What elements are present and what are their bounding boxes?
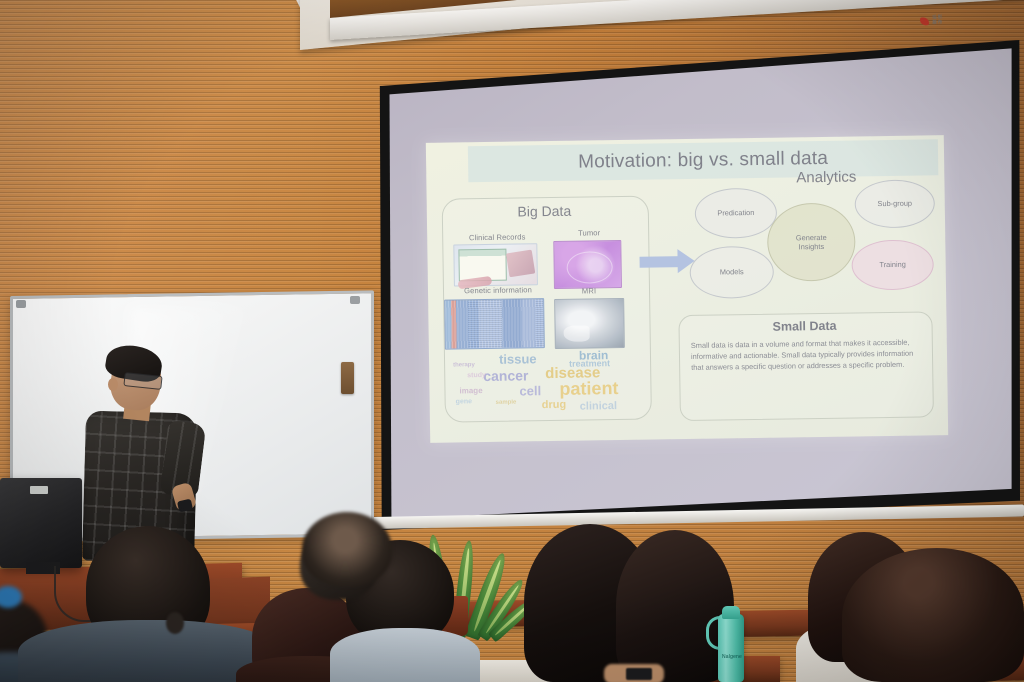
- word-cloud-term: sample: [496, 400, 517, 406]
- bottle-cap: [722, 606, 740, 619]
- caption-mri: MRI: [554, 286, 624, 296]
- word-cloud-term: cell: [519, 383, 541, 398]
- word-cloud-term: drug: [542, 399, 567, 411]
- housing-label-line2: 幕布: [932, 20, 943, 26]
- bottle-brand-text: Nalgene: [720, 654, 744, 660]
- word-cloud-term: cancer: [483, 367, 528, 384]
- audience-shoulders-center-left: [330, 628, 480, 682]
- audience-head-far-right: [842, 548, 1024, 682]
- water-bottle: [718, 614, 744, 682]
- big-data-heading: Big Data: [442, 202, 647, 221]
- word-cloud-term: clinical: [580, 400, 617, 413]
- flow-arrow-body: [640, 256, 682, 268]
- analytics-node-training: Training: [851, 239, 934, 290]
- projected-slide: Motivation: big vs. small data Big Data …: [426, 135, 948, 443]
- word-cloud-term: tissue: [499, 351, 537, 367]
- word-cloud-term: study: [467, 372, 486, 379]
- analytics-node-generate-insights: GenerateInsights: [767, 203, 856, 282]
- tumor-histology-thumbnail: [553, 240, 622, 289]
- caption-clinical-records: Clinical Records: [445, 232, 549, 243]
- brand-mark-icon: [920, 17, 929, 26]
- word-cloud-term: patient: [559, 378, 618, 400]
- caption-tumor: Tumor: [547, 228, 631, 238]
- whiteboard-corner-tr: [350, 296, 360, 304]
- word-cloud-term: gene: [456, 398, 472, 405]
- audience-ear-front-left: [166, 612, 184, 634]
- word-cloud-term: therapy: [453, 362, 475, 368]
- audience-head-center-right: [616, 530, 734, 682]
- phone-device: [626, 668, 652, 680]
- analytics-node-sub-group: Sub-group: [854, 179, 935, 228]
- genetic-heatmap-thumbnail: [444, 298, 545, 349]
- word-cloud-term: treatment: [569, 358, 610, 369]
- caption-genetic-information: Genetic information: [442, 285, 554, 296]
- audience-head-center-back: [302, 512, 392, 586]
- small-data-body: Small data is data in a volume and forma…: [691, 338, 919, 374]
- whiteboard-marker-holder: [341, 362, 354, 394]
- lecture-room-photo: 投影 幕布 Motivation: big vs. small data Big…: [0, 0, 1024, 682]
- biomedical-word-cloud: tissuebraincancerdiseasetreatmentcellpat…: [447, 348, 648, 417]
- whiteboard-corner-tl: [16, 300, 26, 308]
- word-cloud-term: image: [459, 386, 482, 395]
- mri-scan-thumbnail: [554, 298, 625, 349]
- analytics-node-models: Models: [689, 246, 774, 299]
- analytics-node-predication: Predication: [695, 188, 778, 239]
- presenter-ear: [108, 378, 118, 391]
- monitor-label: [30, 486, 48, 494]
